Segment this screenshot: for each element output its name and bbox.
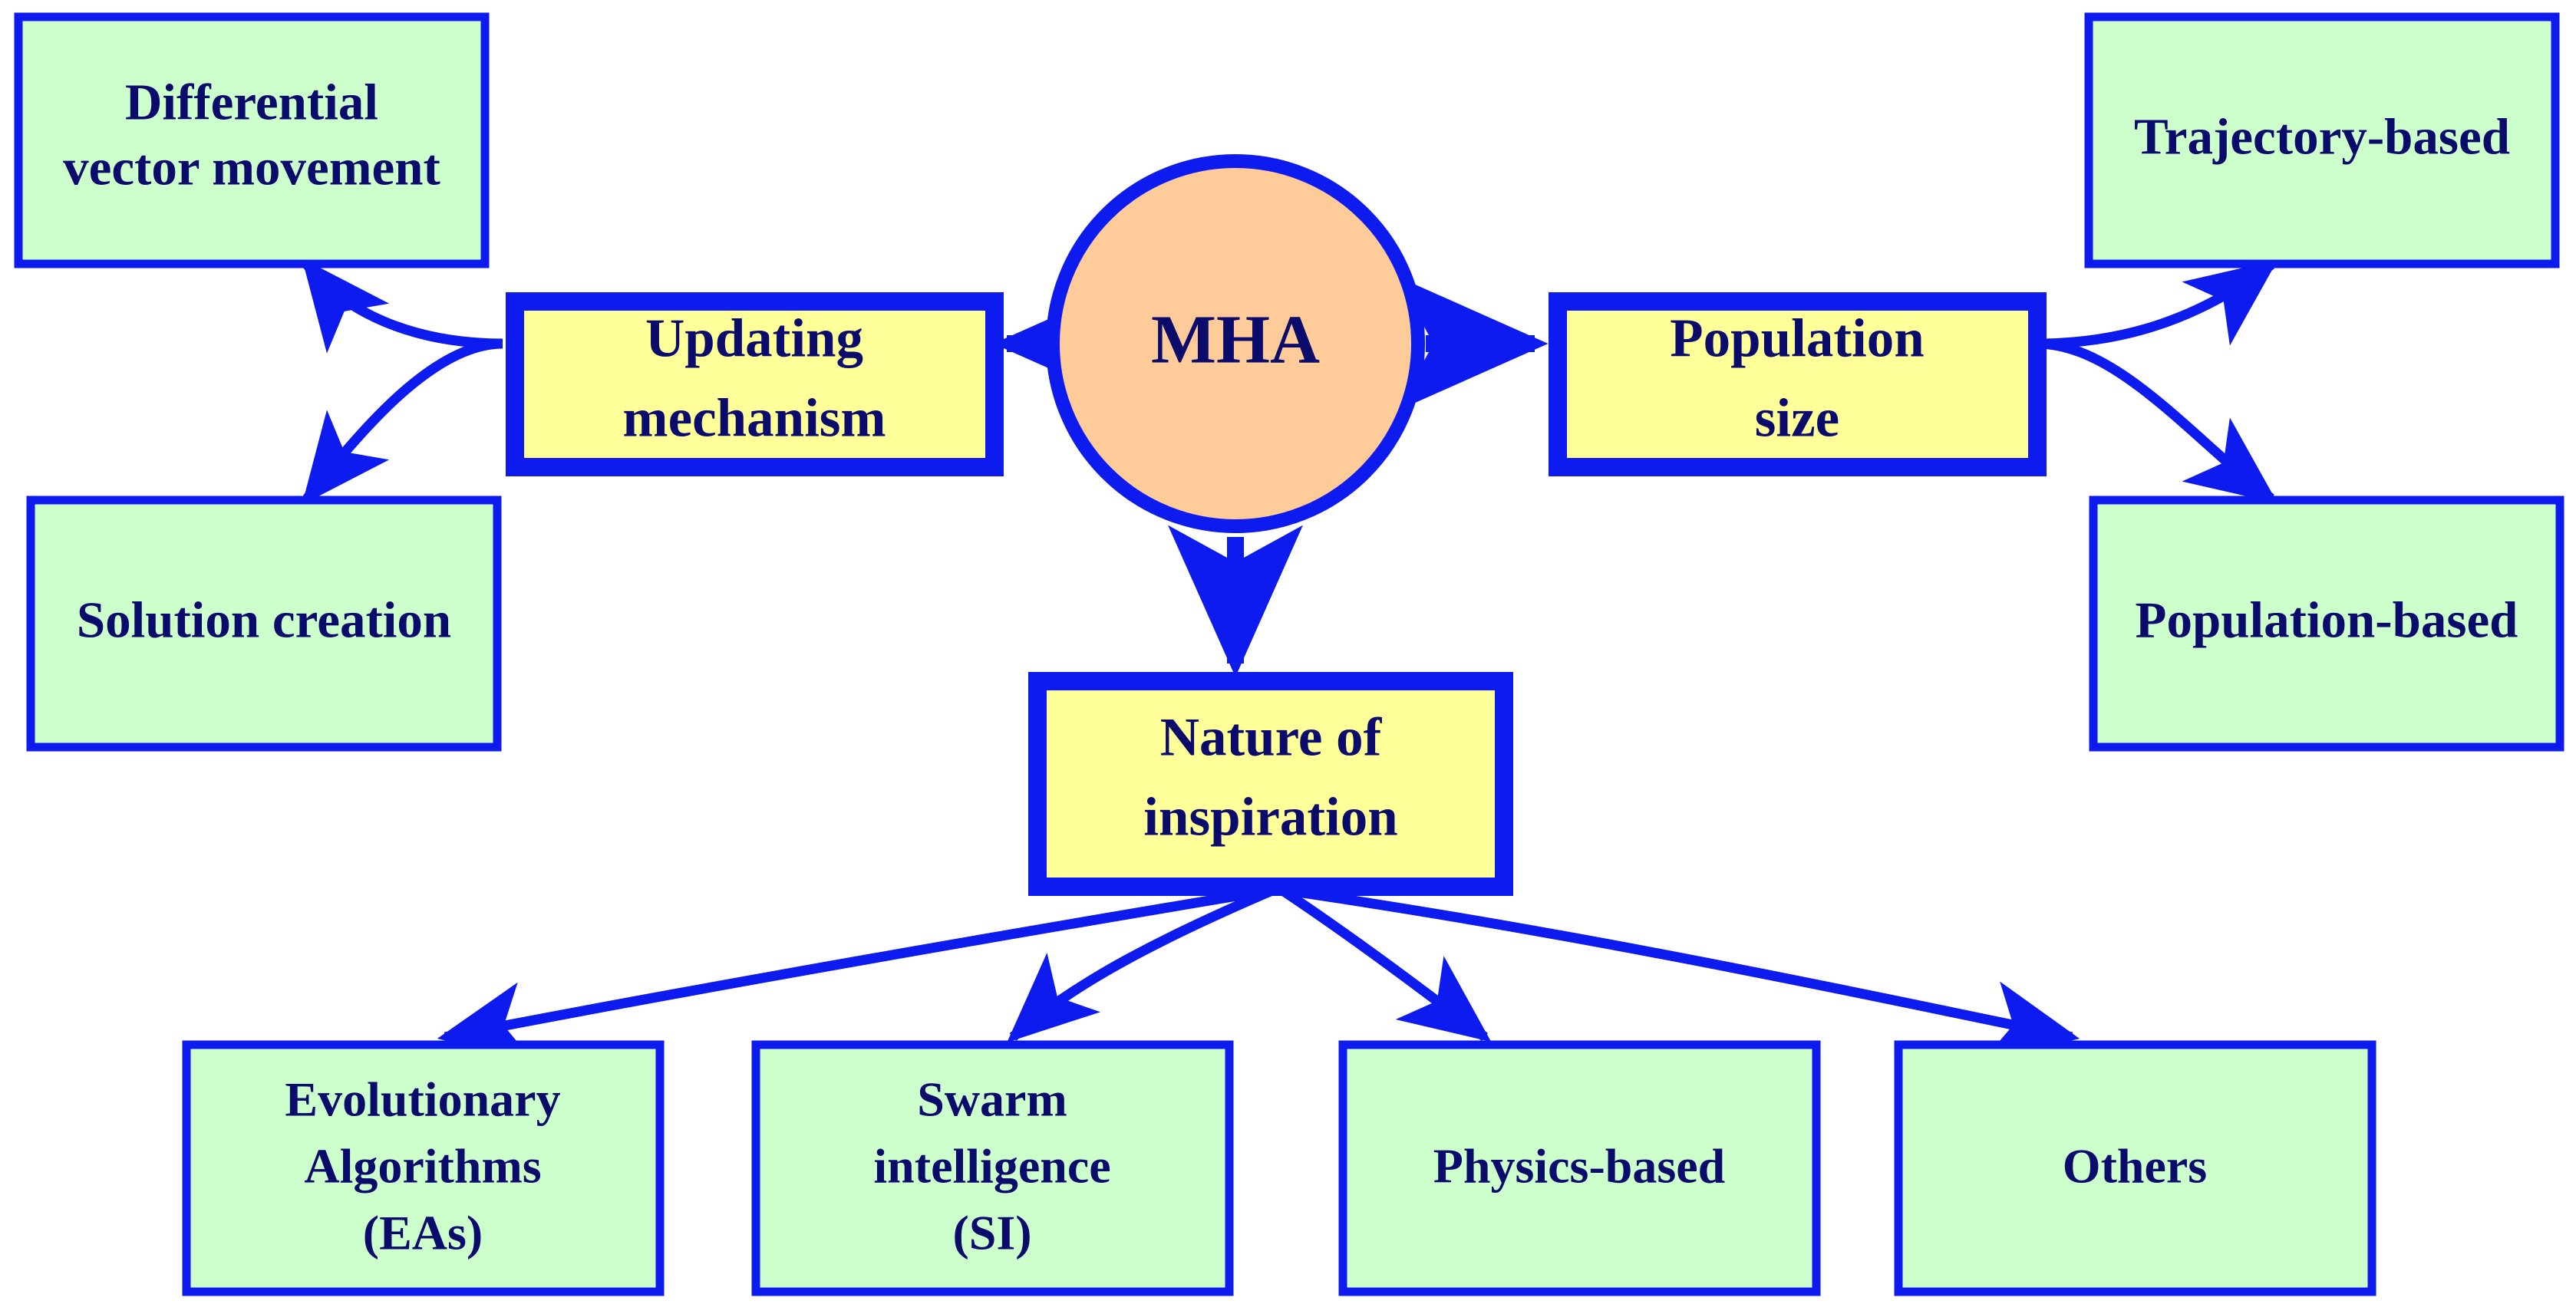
arrow-population-size-to-population-based: [2037, 344, 2271, 499]
label-population-size-line1: Population: [1670, 308, 1924, 368]
node-evolutionary-algorithms[interactable]: Evolutionary Algorithms (EAs): [186, 1045, 660, 1292]
label-differential-vector-movement-line1: Differential: [125, 74, 378, 130]
node-differential-vector-movement[interactable]: Differential vector movement: [18, 17, 485, 264]
label-physics-based-line1: Physics-based: [1433, 1139, 1726, 1194]
label-trajectory-based-line1: Trajectory-based: [2134, 108, 2510, 165]
node-population-size[interactable]: Population size: [1558, 301, 2037, 467]
label-evolutionary-algorithms-line1: Evolutionary: [285, 1072, 560, 1127]
node-trajectory-based[interactable]: Trajectory-based: [2089, 17, 2555, 264]
node-swarm-intelligence[interactable]: Swarm intelligence (SI): [756, 1045, 1229, 1292]
label-swarm-intelligence-line1: Swarm: [917, 1072, 1067, 1127]
diagram-canvas: Differential vector movement Solution cr…: [0, 0, 2576, 1304]
node-updating-mechanism[interactable]: Updating mechanism: [515, 301, 994, 467]
label-updating-mechanism-line2: mechanism: [622, 388, 886, 448]
label-updating-mechanism-line1: Updating: [645, 308, 863, 368]
arrow-nature-to-others: [1281, 890, 2072, 1037]
label-solution-creation-line1: Solution creation: [77, 591, 451, 648]
label-swarm-intelligence-line3: (SI): [952, 1206, 1031, 1260]
label-nature-of-inspiration-line1: Nature of: [1160, 707, 1383, 767]
node-mha-center[interactable]: MHA: [1053, 161, 1418, 526]
label-swarm-intelligence-line2: intelligence: [873, 1139, 1110, 1194]
label-others-line1: Others: [2063, 1139, 2207, 1194]
label-population-based-line1: Population-based: [2136, 591, 2518, 648]
node-nature-of-inspiration[interactable]: Nature of inspiration: [1037, 681, 1504, 887]
label-population-size-line2: size: [1755, 388, 1839, 448]
node-physics-based[interactable]: Physics-based: [1343, 1045, 1816, 1292]
arrow-updating-to-differential-vector-movement: [307, 265, 503, 344]
node-population-based[interactable]: Population-based: [2093, 500, 2560, 747]
arrow-nature-to-evolutionary-algorithms: [445, 890, 1274, 1037]
arrow-updating-to-solution-creation: [307, 344, 503, 499]
arrow-population-size-to-trajectory-based: [2037, 265, 2271, 344]
node-solution-creation[interactable]: Solution creation: [31, 500, 497, 747]
label-evolutionary-algorithms-line3: (EAs): [363, 1206, 483, 1260]
label-nature-of-inspiration-line2: inspiration: [1143, 787, 1397, 847]
label-differential-vector-movement-line2: vector movement: [63, 139, 440, 196]
mha-taxonomy-diagram: Differential vector movement Solution cr…: [0, 0, 2576, 1304]
node-others[interactable]: Others: [1898, 1045, 2372, 1292]
label-mha: MHA: [1151, 302, 1320, 378]
label-evolutionary-algorithms-line2: Algorithms: [304, 1139, 541, 1194]
